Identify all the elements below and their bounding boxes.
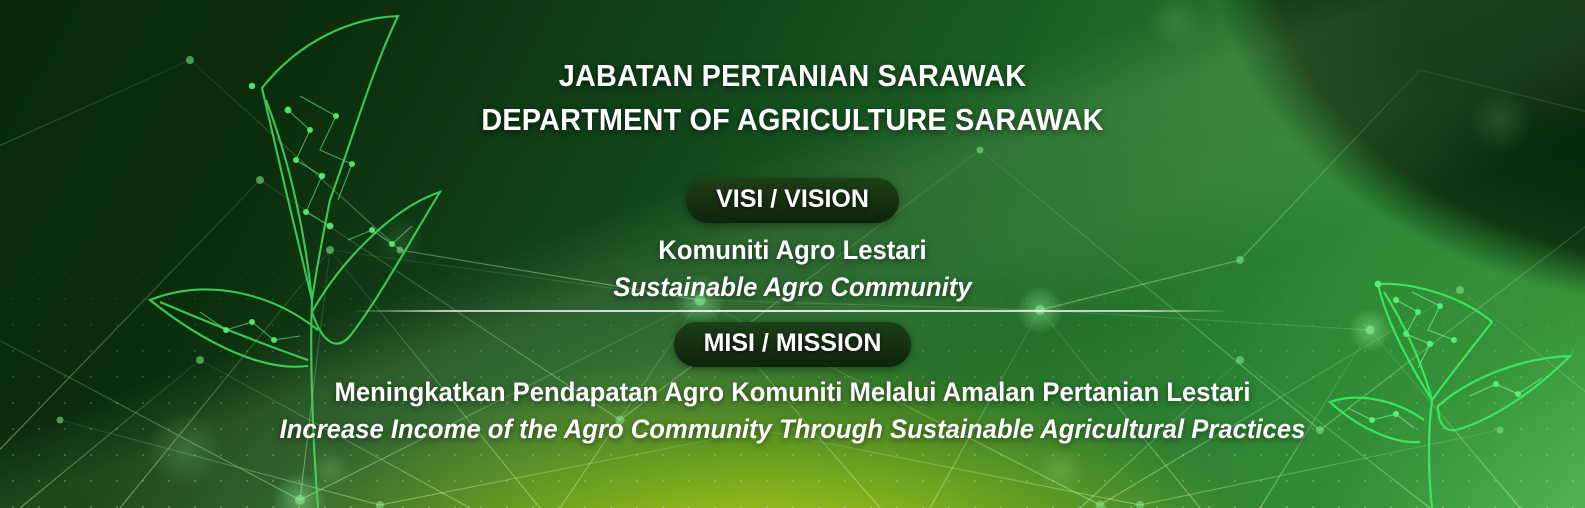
- vision-section: VISI / VISION Komuniti Agro Lestari Sust…: [0, 142, 1585, 303]
- vision-mission-banner: JABATAN PERTANIAN SARAWAK DEPARTMENT OF …: [0, 0, 1585, 508]
- mission-pill-label: MISI / MISSION: [674, 322, 912, 367]
- title-line-malay: JABATAN PERTANIAN SARAWAK: [55, 54, 1529, 98]
- vision-text-malay: Komuniti Agro Lestari: [40, 235, 1546, 266]
- banner-content: JABATAN PERTANIAN SARAWAK DEPARTMENT OF …: [0, 0, 1585, 508]
- title-line-english: DEPARTMENT OF AGRICULTURE SARAWAK: [55, 98, 1529, 142]
- mission-text-english: Increase Income of the Agro Community Th…: [40, 414, 1546, 445]
- mission-text-malay: Meningkatkan Pendapatan Agro Komuniti Me…: [40, 377, 1546, 408]
- vision-pill-label: VISI / VISION: [686, 178, 899, 223]
- organisation-title: JABATAN PERTANIAN SARAWAK DEPARTMENT OF …: [0, 0, 1585, 142]
- mission-section: MISI / MISSION Meningkatkan Pendapatan A…: [0, 303, 1585, 445]
- vision-text-english: Sustainable Agro Community: [40, 272, 1546, 303]
